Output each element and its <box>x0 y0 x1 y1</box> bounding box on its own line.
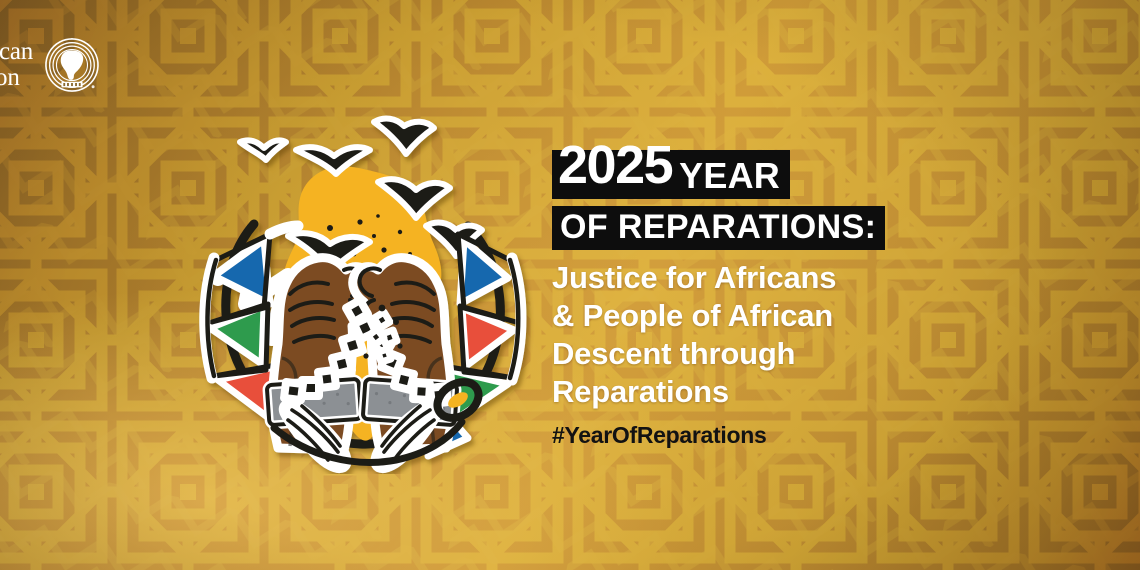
african-union-logo-text: frican nion <box>0 39 33 91</box>
logo-line-2: nion <box>0 65 33 91</box>
headline-year: 2025 <box>558 135 672 195</box>
headline-row-2: OF REPARATIONS: <box>552 203 982 250</box>
campaign-copy-block: 2025YEAR OF REPARATIONS: Justice for Afr… <box>552 150 982 449</box>
broken-chains-fists-africa-illustration <box>178 108 544 474</box>
headline-year-label: YEAR <box>679 155 780 196</box>
subheadline-line-2: & People of African <box>552 297 982 335</box>
headline-of-reparations: OF REPARATIONS: <box>552 206 885 250</box>
subheadline-line-3: Descent through <box>552 335 982 373</box>
subheadline: Justice for Africans & People of African… <box>552 259 982 411</box>
reparations-campaign-banner: frican nion <box>0 0 1140 570</box>
logo-line-1: frican <box>0 39 33 65</box>
headline-year-banner: 2025YEAR <box>552 150 790 199</box>
african-union-logo: frican nion <box>0 32 103 98</box>
subheadline-line-4: Reparations <box>552 373 982 411</box>
headline-row-1: 2025YEAR <box>552 150 982 199</box>
campaign-hashtag: #YearOfReparations <box>552 422 982 449</box>
africa-map-circular-emblem-icon <box>41 34 103 96</box>
subheadline-line-1: Justice for Africans <box>552 259 982 297</box>
